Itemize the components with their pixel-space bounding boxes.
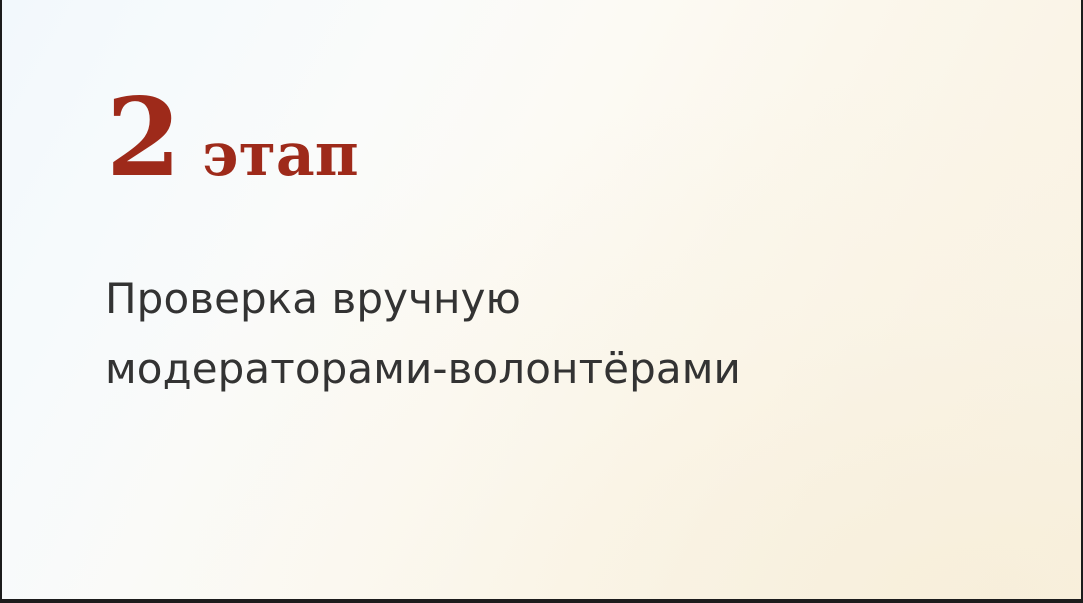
step-description-line-1: Проверка вручную xyxy=(105,264,965,334)
step-number: 2 xyxy=(106,84,180,192)
step-description-line-2: модераторами-волонтёрами xyxy=(105,334,965,404)
step-heading: 2 этап xyxy=(106,84,359,192)
slide-canvas: 2 этап Проверка вручную модераторами-вол… xyxy=(0,0,1083,603)
step-description: Проверка вручную модераторами-волонтёрам… xyxy=(105,264,965,404)
step-label: этап xyxy=(202,125,359,185)
slide-content: 2 этап Проверка вручную модераторами-вол… xyxy=(2,0,1081,599)
